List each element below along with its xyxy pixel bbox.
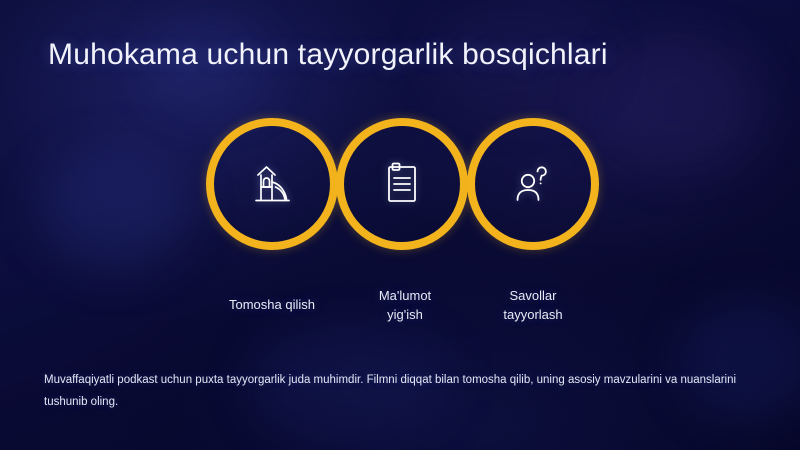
step-label-2: Ma'lumot yig'ish	[335, 286, 475, 324]
presentation-slide: Muhokama uchun tayyorgarlik bosqichlari	[0, 0, 800, 450]
footer-note: Muvaffaqiyatli podkast uchun puxta tayyo…	[44, 369, 756, 413]
step-labels: Tomosha qilish Ma'lumot yig'ish Savollar…	[0, 286, 800, 346]
step-label-2-line2: yig'ish	[335, 305, 475, 324]
step-label-1: Tomosha qilish	[202, 295, 342, 314]
slide-title: Muhokama uchun tayyorgarlik bosqichlari	[48, 38, 608, 72]
step-circle-2	[326, 108, 478, 260]
step-label-3: Savollar tayyorlash	[463, 286, 603, 324]
playground-slide-icon	[206, 118, 338, 250]
step-label-2-line1: Ma'lumot	[335, 286, 475, 305]
step-label-3-line1: Savollar	[463, 286, 603, 305]
step-label-3-line2: tayyorlash	[463, 305, 603, 324]
person-question-icon	[467, 118, 599, 250]
steps-diagram	[0, 108, 800, 268]
note-document-icon	[336, 118, 468, 250]
step-circle-3	[457, 108, 609, 260]
